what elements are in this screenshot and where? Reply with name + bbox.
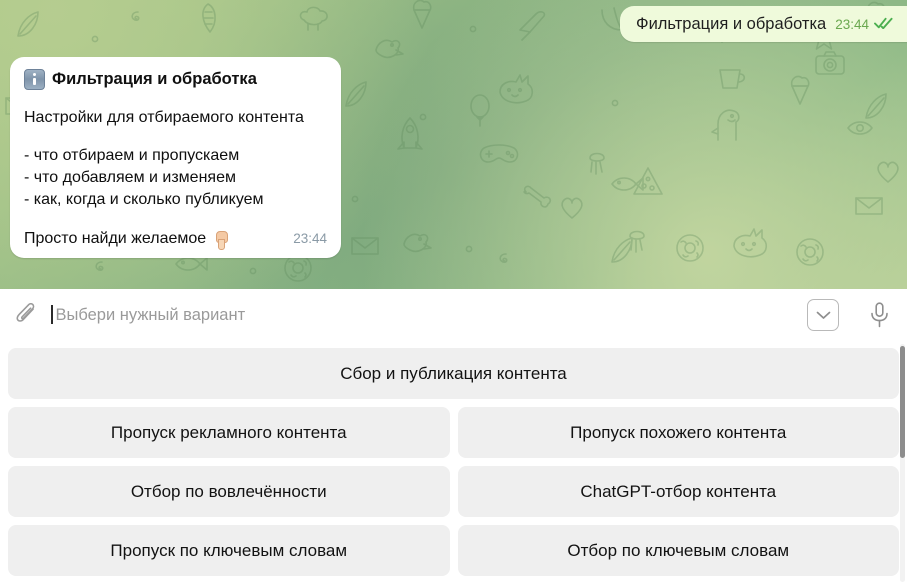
keyboard-button-chatgpt-otbor-kontenta[interactable]: ChatGPT-отбор контента <box>458 466 900 517</box>
voice-record-button[interactable] <box>865 300 893 330</box>
paperclip-icon[interactable] <box>12 300 42 330</box>
bot-reply-keyboard: Сбор и публикация контента Пропуск рекла… <box>0 340 907 585</box>
outgoing-message-bubble[interactable]: Фильтрация и обработка 23:44 <box>620 6 907 42</box>
incoming-message-closing: Просто найди желаемое <box>24 228 206 250</box>
incoming-message-footer-row: Просто найди желаемое 23:44 <box>24 228 327 250</box>
keyboard-row: Сбор и публикация контента <box>8 348 899 399</box>
keyboard-scrollbar-thumb[interactable] <box>900 346 905 458</box>
double-check-icon <box>874 16 893 34</box>
incoming-message-list: - что отбираем и пропускаем - что добавл… <box>24 145 327 211</box>
list-item: - что добавляем и изменяем <box>24 167 327 189</box>
keyboard-button-propusk-pohozhego-kontenta[interactable]: Пропуск похожего контента <box>458 407 900 458</box>
keyboard-row: Пропуск по ключевым словам Отбор по ключ… <box>8 525 899 576</box>
incoming-message-time: 23:44 <box>293 231 327 246</box>
chat-message-area: Фильтрация и обработка 23:44 Фильтрация … <box>0 0 907 289</box>
information-emoji-icon <box>24 69 45 90</box>
incoming-message-title: Фильтрация и обработка <box>52 68 257 90</box>
list-item: - что отбираем и пропускаем <box>24 145 327 167</box>
keyboard-row: Пропуск рекламного контента Пропуск похо… <box>8 407 899 458</box>
keyboard-button-otbor-po-klyuchevym-slovam[interactable]: Отбор по ключевым словам <box>458 525 900 576</box>
keyboard-button-sbor-i-publikaciya-kontenta[interactable]: Сбор и публикация контента <box>8 348 899 399</box>
keyboard-button-propusk-po-klyuchevym-slovam[interactable]: Пропуск по ключевым словам <box>8 525 450 576</box>
message-composer: Выбери нужный вариант <box>0 289 907 340</box>
telegram-chat-screen: Фильтрация и обработка 23:44 Фильтрация … <box>0 0 907 585</box>
outgoing-message-time: 23:44 <box>835 17 869 32</box>
message-input-placeholder: Выбери нужный вариант <box>53 305 246 325</box>
list-item: - как, когда и сколько публикуем <box>24 189 327 211</box>
incoming-message-bubble[interactable]: Фильтрация и обработка Настройки для отб… <box>10 57 341 258</box>
pointing-down-hand-emoji-icon <box>213 231 228 248</box>
outgoing-message-text: Фильтрация и обработка <box>636 14 826 34</box>
incoming-message-title-row: Фильтрация и обработка <box>24 68 327 90</box>
keyboard-toggle-button[interactable] <box>807 299 839 331</box>
keyboard-row: Отбор по вовлечённости ChatGPT-отбор кон… <box>8 466 899 517</box>
keyboard-button-propusk-reklamnogo-kontenta[interactable]: Пропуск рекламного контента <box>8 407 450 458</box>
incoming-message-paragraph: Настройки для отбираемого контента <box>24 107 327 128</box>
keyboard-button-otbor-po-vovlechennosti[interactable]: Отбор по вовлечённости <box>8 466 450 517</box>
chevron-down-icon <box>816 310 831 320</box>
microphone-icon <box>870 302 889 328</box>
message-input[interactable]: Выбери нужный вариант <box>51 300 807 330</box>
incoming-message-closing-wrap: Просто найди желаемое <box>24 228 228 250</box>
outgoing-message-meta: 23:44 <box>835 16 893 34</box>
